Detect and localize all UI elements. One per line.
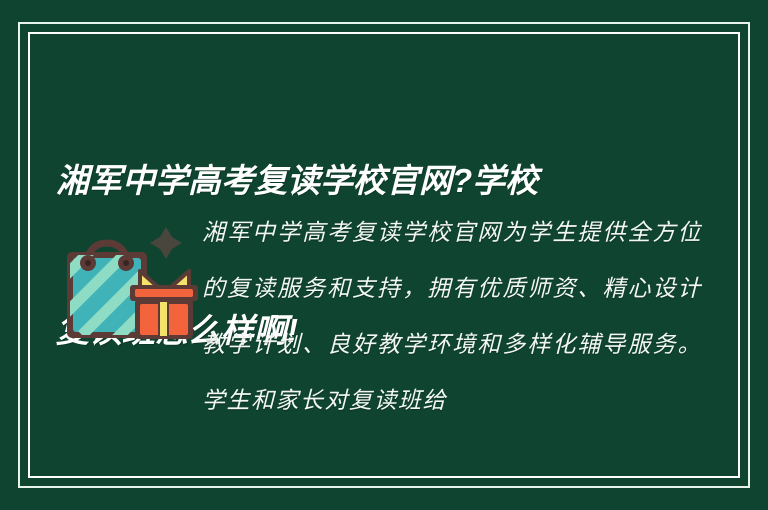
body-paragraph: 湘军中学高考复读学校官网为学生提供全方位的复读服务和支持，拥有优质师资、精心设计… bbox=[202, 205, 702, 467]
page-title-line-1: 湘军中学高考复读学校官网?学校 bbox=[56, 156, 696, 206]
content-area: 湘军中学高考复读学校官网为学生提供全方位的复读服务和支持，拥有优质师资、精心设计… bbox=[56, 205, 716, 475]
shopping-bag-and-gift-illustration bbox=[56, 215, 206, 350]
poster-card: 湘军中学高考复读学校官网?学校 复读班怎么样啊! bbox=[0, 0, 768, 510]
sparkle-icon bbox=[150, 227, 182, 259]
